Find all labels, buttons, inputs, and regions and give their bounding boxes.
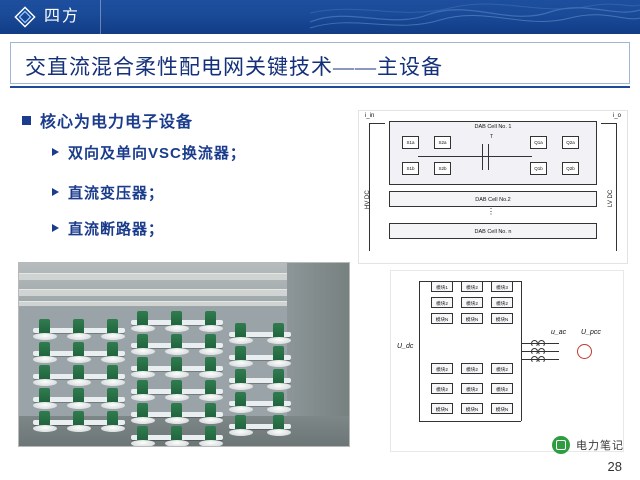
- inductor-icon: [538, 348, 545, 355]
- switch-s1b: S1b: [402, 162, 419, 175]
- page-title: 交直流混合柔性配电网关键技术——主设备: [25, 51, 443, 81]
- triangle-bullet-icon: [52, 148, 59, 156]
- triangle-bullet-icon: [52, 188, 59, 196]
- insulator-stack: [131, 311, 223, 447]
- dab-cell-n: DAB Cell No. n: [389, 223, 597, 239]
- watermark-label: 电力笔记: [576, 437, 624, 453]
- module-cell: 模块2: [461, 383, 483, 394]
- module-cell: 模块2: [491, 297, 513, 308]
- ac-source-icon: [577, 344, 592, 359]
- modular-converter-diagram: 模块1 模块2 模块3 模块2 模块2 模块2 模块N 模块N 模块N 模块2 …: [390, 270, 624, 452]
- bullet-level1: 核心为电力电子设备: [22, 108, 193, 132]
- title-underline: [10, 86, 630, 88]
- transformer-winding: [488, 144, 489, 170]
- bullet-level2-label: 直流断路器；: [68, 221, 164, 238]
- square-bullet-icon: [22, 116, 31, 125]
- transformer-lead: [488, 156, 532, 157]
- slide-title-box: 交直流混合柔性配电网关键技术——主设备: [10, 42, 630, 84]
- module-cell: 模块2: [431, 297, 453, 308]
- bullet-level2-label: 双向及单向VSC换流器；: [68, 145, 246, 162]
- module-cell: 模块N: [431, 403, 453, 414]
- transformer-lead: [418, 156, 488, 157]
- upcc-label: U_pcc: [581, 329, 601, 336]
- slide-root: 四方 交直流混合柔性配电网关键技术——主设备 核心为电力电子设备 双向及单向VS…: [0, 0, 640, 480]
- insulator-stack: [33, 319, 125, 434]
- switch-s1a: S1a: [402, 136, 419, 149]
- inductor-icon: [538, 340, 545, 347]
- dab-lead: [369, 123, 385, 124]
- dab-lvdc-label: LV DC: [608, 190, 614, 207]
- switch-s2b: S2b: [434, 162, 451, 175]
- udc-label: U_dc: [397, 343, 413, 350]
- dab-current-in-label: i_in: [365, 113, 374, 119]
- header-divider: [100, 0, 101, 34]
- module-cell: 模块2: [491, 383, 513, 394]
- dab-cell-1-title: DAB Cell No. 1: [390, 124, 596, 130]
- dc-bus-bottom: [419, 421, 521, 422]
- dab-vertical-dots: ⋮: [487, 207, 495, 216]
- switch-q1a: Q1a: [530, 136, 547, 149]
- inductor-icon: [538, 356, 545, 363]
- page-number: 28: [608, 459, 622, 474]
- module-cell: 模块N: [431, 313, 453, 324]
- substation-insulator-array-photo: [18, 262, 350, 447]
- triangle-bullet-icon: [52, 224, 59, 232]
- switch-s2a: S2a: [434, 136, 451, 149]
- module-cell: 模块2: [431, 383, 453, 394]
- module-cell: 模块2: [431, 363, 453, 374]
- dab-hvdc-label: HV DC: [365, 190, 371, 209]
- module-cell: 模块3: [491, 281, 513, 292]
- inductor-icon: [531, 356, 538, 363]
- switch-q2a: Q2a: [562, 136, 579, 149]
- module-cell: 模块2: [461, 297, 483, 308]
- wave-decoration-icon: [310, 0, 640, 34]
- bullet-level1-label: 核心为电力电子设备: [40, 114, 193, 131]
- company-logo-text: 四方: [44, 6, 80, 28]
- dc-bus-top: [419, 281, 521, 282]
- dab-right-bus: [616, 123, 617, 251]
- dab-cell-1: DAB Cell No. 1 S1a S2a S1b S2b Q1a Q2a Q…: [389, 121, 597, 185]
- module-cell: 模块N: [491, 403, 513, 414]
- bullet-level2-item: 直流断路器；: [52, 218, 164, 239]
- dc-bus-left: [419, 281, 420, 421]
- inductor-icon: [531, 340, 538, 347]
- slide-header: 四方: [0, 0, 640, 34]
- dab-current-out-label: i_o: [613, 113, 621, 119]
- transformer-winding: [482, 144, 483, 170]
- green-square-badge-icon: [552, 436, 570, 454]
- watermark: 电力笔记: [552, 436, 624, 454]
- module-cell: 模块N: [461, 403, 483, 414]
- transformer-label: T: [490, 134, 493, 140]
- dab-cell-series-diagram: i_in i_o HV DC LV DC DAB Cell No. 1 S1a …: [358, 110, 628, 264]
- switch-q1b: Q1b: [530, 162, 547, 175]
- module-cell: 模块2: [461, 281, 483, 292]
- bullet-level2-item: 直流变压器；: [52, 182, 164, 203]
- dab-lead: [601, 123, 617, 124]
- module-cell: 模块2: [491, 363, 513, 374]
- module-cell: 模块1: [431, 281, 453, 292]
- diamond-hexagon-logo-icon: [14, 6, 36, 28]
- module-cell: 模块N: [491, 313, 513, 324]
- insulator-stack: [229, 323, 291, 438]
- module-cell: 模块N: [461, 313, 483, 324]
- inductor-icon: [531, 348, 538, 355]
- bullet-level2-item: 双向及单向VSC换流器；: [52, 142, 246, 163]
- switch-q2b: Q2b: [562, 162, 579, 175]
- dab-cell-2: DAB Cell No.2: [389, 191, 597, 207]
- bullet-level2-label: 直流变压器；: [68, 185, 164, 202]
- module-cell: 模块2: [461, 363, 483, 374]
- uac-label: u_ac: [551, 329, 566, 336]
- dab-left-bus: [369, 123, 370, 251]
